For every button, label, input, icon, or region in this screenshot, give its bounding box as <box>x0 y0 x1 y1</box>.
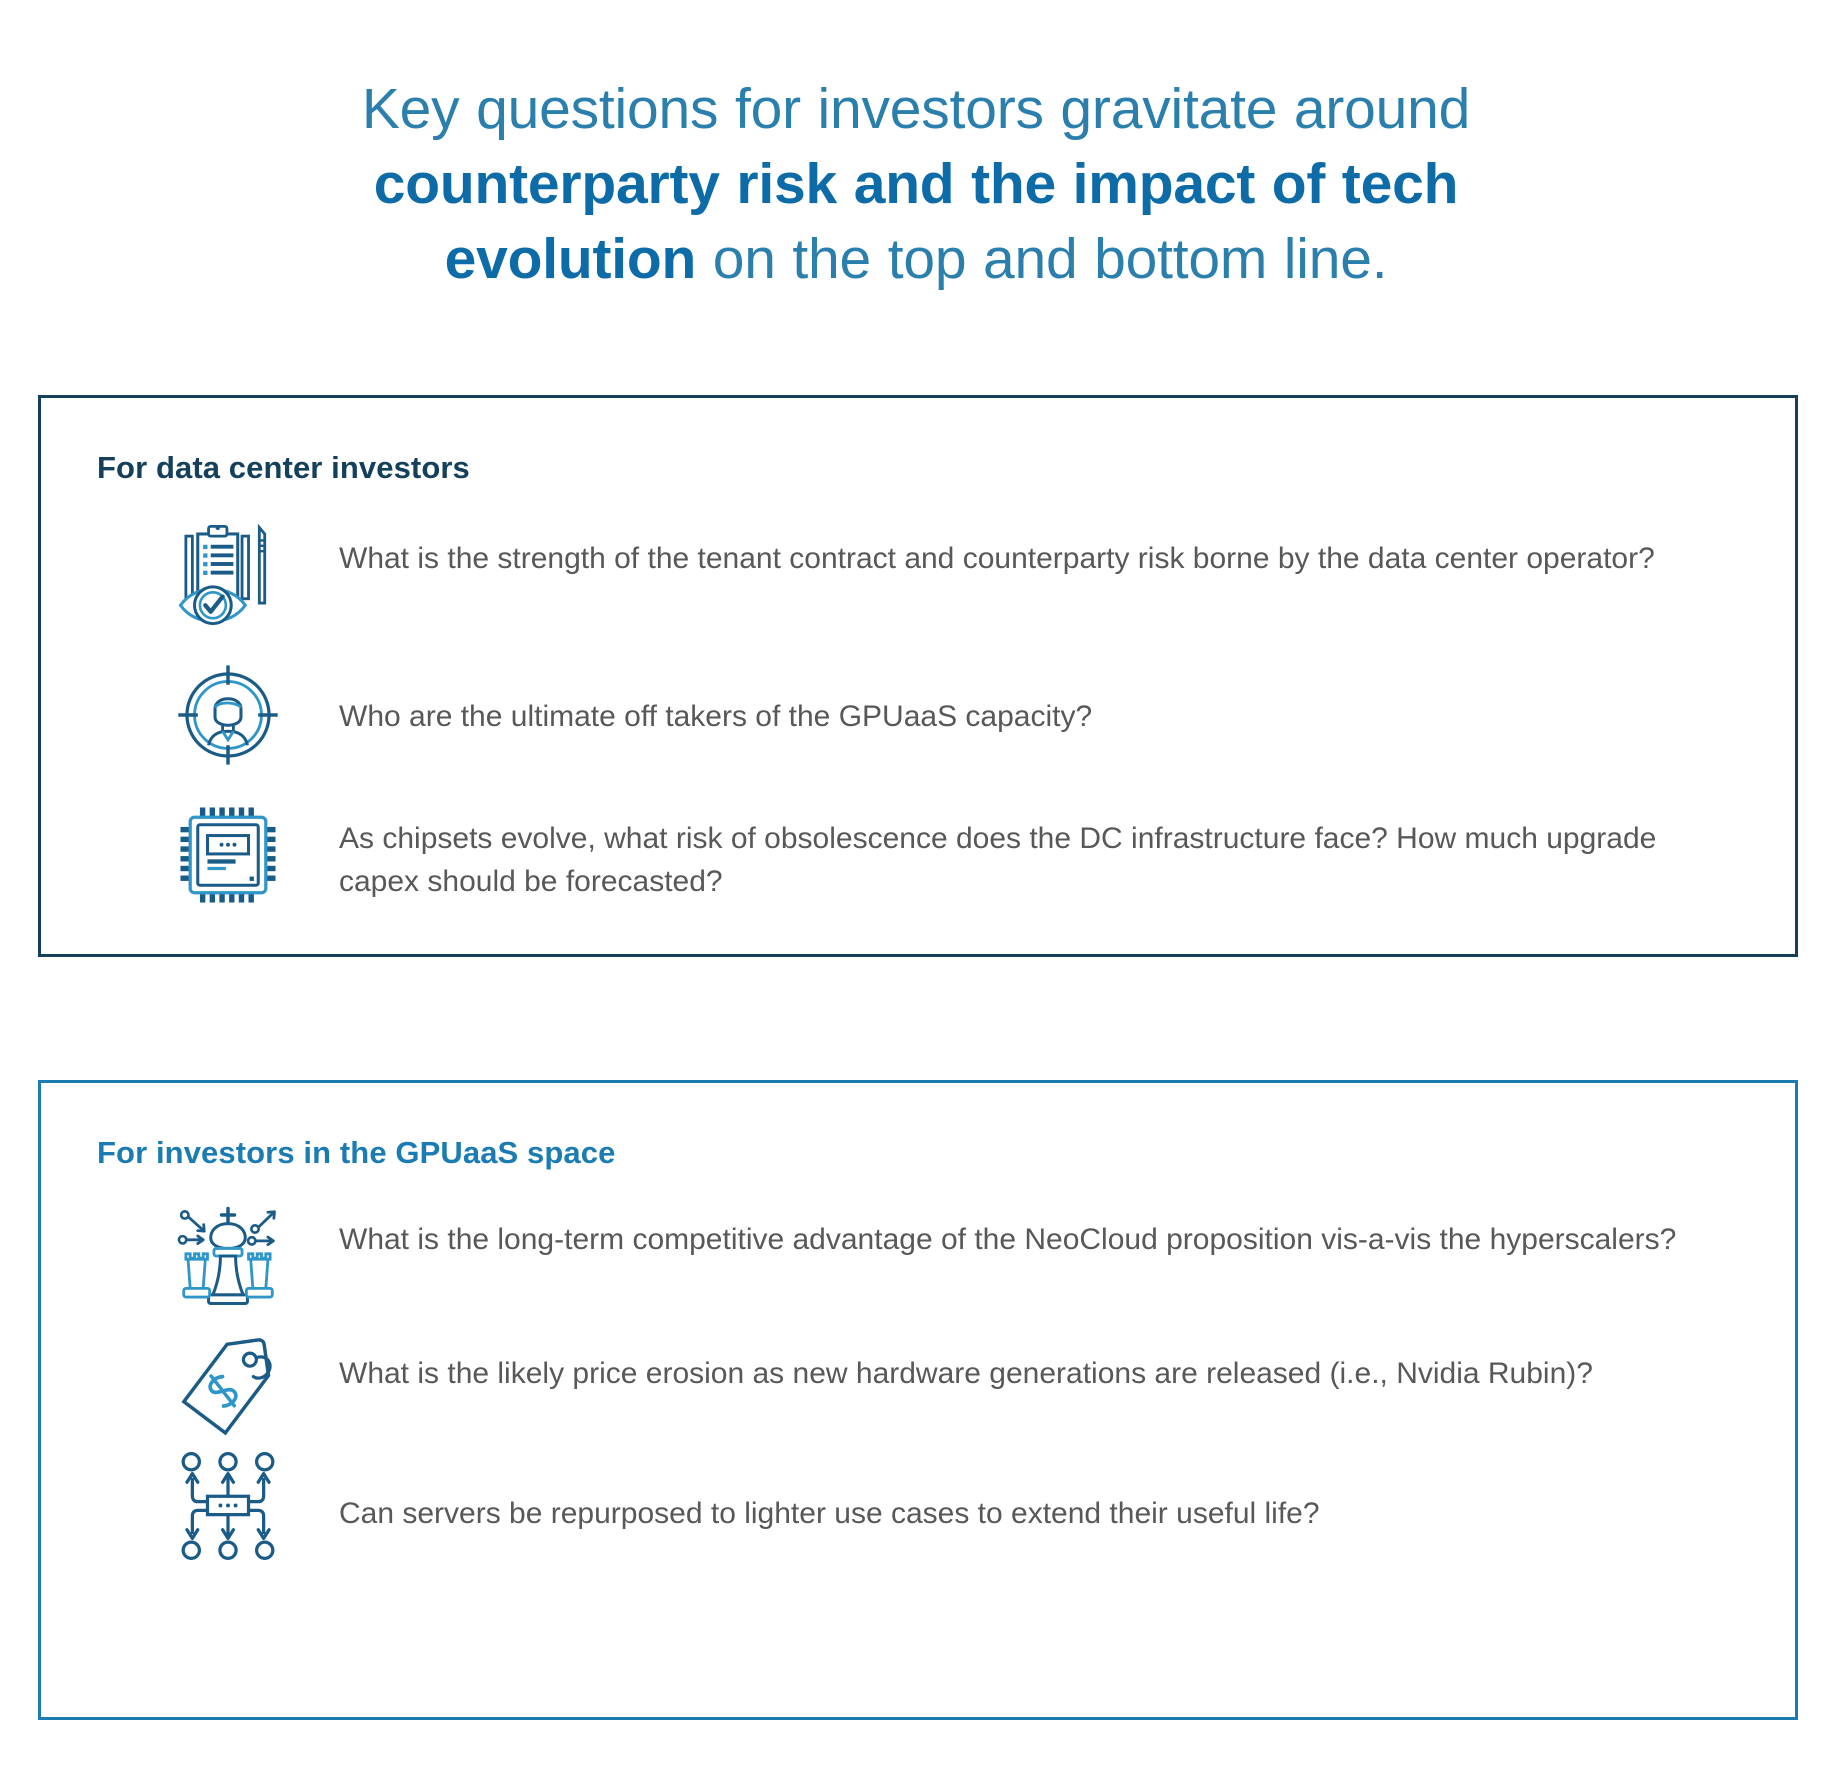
chipset-processor-icon <box>169 796 287 914</box>
chess-strategy-icon <box>169 1197 287 1315</box>
slide-root: Key questions for investors gravitate ar… <box>0 0 1832 1772</box>
target-person-icon <box>169 656 287 774</box>
page-title: Key questions for investors gravitate ar… <box>0 0 1832 298</box>
panel-2-items: What is the long-term competitive advant… <box>41 1197 1795 1565</box>
list-item: What is the strength of the tenant contr… <box>41 516 1795 634</box>
list-item: Who are the ultimate off takers of the G… <box>41 656 1795 774</box>
list-item-text: What is the likely price erosion as new … <box>287 1331 1764 1396</box>
list-item-text: What is the strength of the tenant contr… <box>287 516 1764 581</box>
title-text: Key questions for investors gravitate ar… <box>250 72 1582 298</box>
list-item-text: What is the long-term competitive advant… <box>287 1197 1764 1262</box>
list-item: What is the likely price erosion as new … <box>41 1331 1795 1449</box>
clipboard-eye-checklist-icon <box>169 516 287 634</box>
panel-1-items: What is the strength of the tenant contr… <box>41 516 1795 914</box>
list-item-text: Who are the ultimate off takers of the G… <box>287 656 1764 739</box>
server-redistribution-icon <box>169 1447 287 1565</box>
panel-1-heading: For data center investors <box>97 450 1795 486</box>
price-tag-dollar-icon <box>169 1331 287 1449</box>
list-item: As chipsets evolve, what risk of obsoles… <box>41 796 1795 914</box>
panel-gpuaas-investors: For investors in the GPUaaS space <box>38 1080 1798 1720</box>
panel-data-center-investors: For data center investors <box>38 395 1798 957</box>
title-line-1: Key questions for investors gravitate ar… <box>362 77 1470 141</box>
list-item-text: As chipsets evolve, what risk of obsoles… <box>287 796 1764 903</box>
list-item: What is the long-term competitive advant… <box>41 1197 1795 1315</box>
list-item: Can servers be repurposed to lighter use… <box>41 1453 1795 1565</box>
panel-2-heading: For investors in the GPUaaS space <box>97 1135 1795 1171</box>
list-item-text: Can servers be repurposed to lighter use… <box>287 1453 1764 1536</box>
title-line-2: on the top and bottom line. <box>696 227 1387 291</box>
